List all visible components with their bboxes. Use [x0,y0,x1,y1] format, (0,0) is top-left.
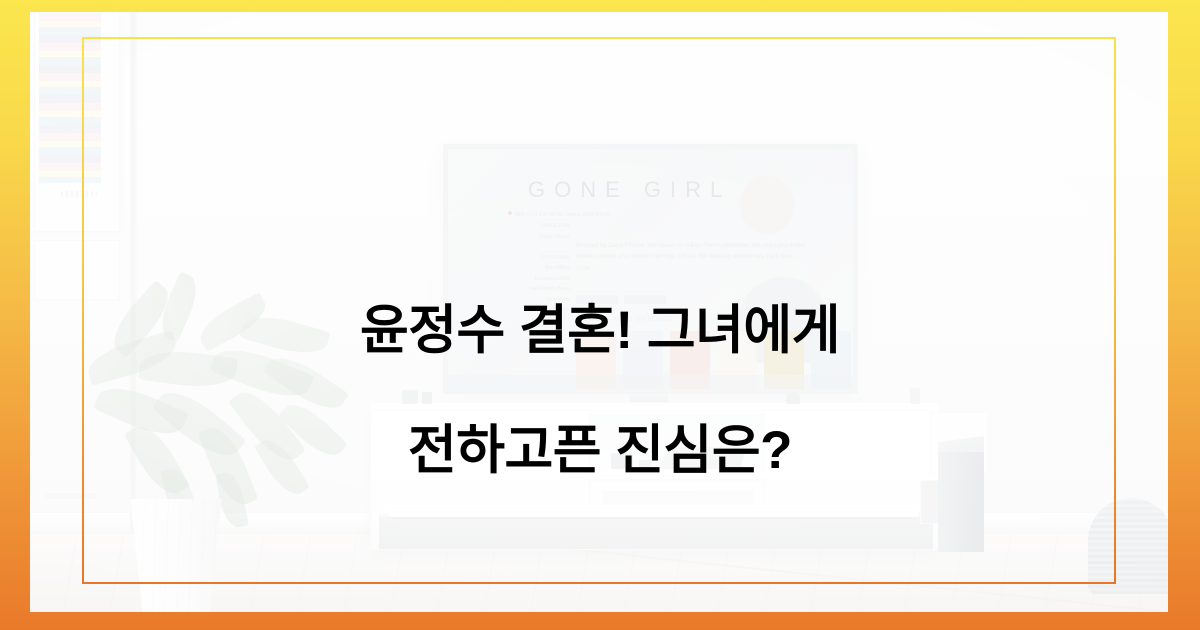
console-top [371,403,939,411]
console-shelf [589,471,765,479]
tv-title: GONE GIRL [528,177,731,203]
tv-meta: 88% +17+ 2 hr 29 min Drama 2014 HD CC [508,211,808,220]
tv-bottom-bar [448,375,853,389]
wall-art-caption [45,493,97,499]
console-top-item [422,392,432,404]
wall-art-stripes [39,13,101,183]
television: GONE GIRL DIRECTOR David Fincher STARRIN… [443,144,858,394]
floor-speaker [938,452,984,552]
banner-card: GONE GIRL DIRECTOR David Fincher STARRIN… [0,0,1200,630]
tv-starring: Ben Affleck Rosamund Pike Neil Patrick H… [530,265,570,313]
console-device-console [660,447,746,469]
wall-art-frame [34,12,120,232]
console-top-item [910,388,920,404]
tv-starring-label: STARRING [540,255,570,261]
console-top-item [402,390,418,404]
tv-row-label: VIEWERS ALSO WATCHED [576,317,672,323]
plant-foliage [92,298,342,528]
background-photo: GONE GIRL DIRECTOR David Fincher STARRIN… [30,12,1168,612]
tv-screen: GONE GIRL DIRECTOR David Fincher STARRIN… [448,149,853,389]
woven-basket [1088,498,1168,594]
tv-my-list-button [624,295,666,304]
tv-buttons [576,295,666,304]
tv-watch-now-button [576,295,618,304]
media-console [370,402,940,550]
console-device-small [639,460,651,469]
console-device-receiver [611,453,633,469]
tv-credits: DIRECTOR David Fincher STARRING Ben Affl… [496,221,570,316]
console-lip [389,509,919,517]
tv-director-label: DIRECTOR [540,223,570,229]
console-top-item [786,392,800,404]
tv-description: Directed by David Fincher and based on G… [576,241,806,275]
score-dot-icon [508,211,512,215]
wall-art-signature [61,191,97,197]
wall-art-frame-secondary [34,240,120,300]
tv-director: David Fincher [539,234,570,240]
